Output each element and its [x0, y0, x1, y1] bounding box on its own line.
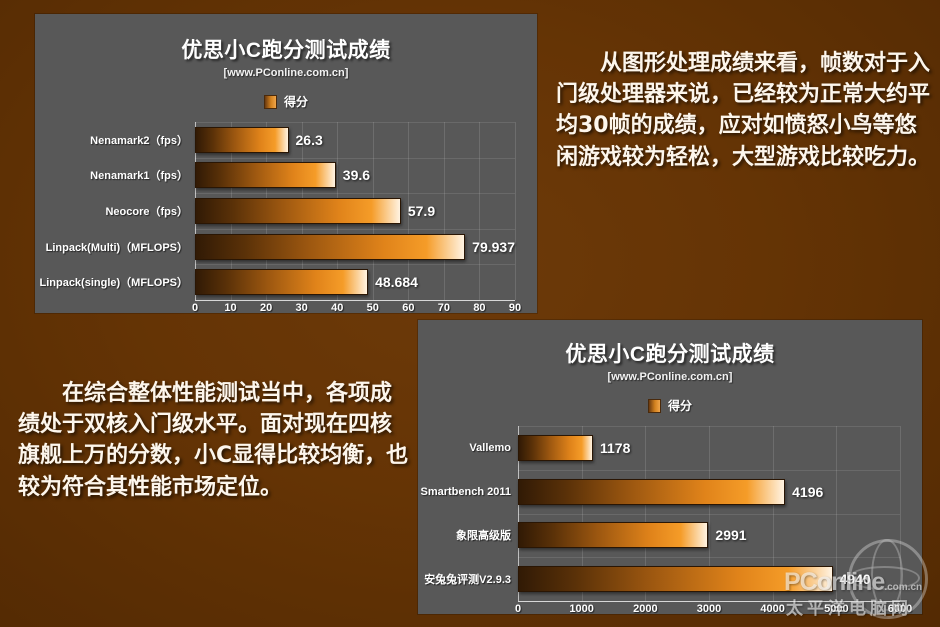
bar-category-label: Nenamark2（fps） [90, 132, 195, 148]
chart-bar-row: Nenamark2（fps）26.3 [195, 122, 515, 158]
chart-1-bars: Nenamark2（fps）26.3Nenamark1（fps）39.6Neoc… [195, 122, 515, 300]
bar [195, 162, 336, 188]
chart-bar-row: Smartbench 20114196 [518, 470, 900, 514]
bar-category-label: Linpack(single)（MFLOPS） [39, 274, 195, 290]
chart-2-legend-label: 得分 [668, 397, 692, 414]
chart-bar-row: Vallemo1178 [518, 426, 900, 470]
chart-2-axis-line [518, 601, 900, 602]
bar-value-label: 39.6 [343, 167, 370, 183]
bar-category-label: Nenamark1（fps） [90, 167, 195, 183]
bar-value-label: 2991 [715, 527, 746, 543]
chart-1-title: 优思小C跑分测试成绩 [35, 34, 537, 64]
x-axis-tick-label: 6000 [888, 603, 912, 615]
bar [195, 269, 368, 295]
x-axis-tick-label: 60 [402, 302, 414, 314]
chart-bar-row: 安兔兔评测V2.9.34940 [518, 557, 900, 601]
legend-swatch-icon [264, 95, 277, 109]
bar-value-label: 4940 [840, 571, 871, 587]
gridline-vertical [900, 426, 901, 601]
x-axis-tick-label: 1000 [569, 603, 593, 615]
bar-value-label: 57.9 [408, 203, 435, 219]
chart-2-title: 优思小C跑分测试成绩 [418, 338, 922, 368]
x-axis-tick-label: 3000 [697, 603, 721, 615]
bar [195, 234, 465, 260]
chart-panel-overall: 优思小C跑分测试成绩 [www.PConline.com.cn] 得分 Vall… [418, 320, 922, 614]
bar-category-label: Smartbench 2011 [421, 486, 519, 498]
x-axis-tick-label: 4000 [760, 603, 784, 615]
paragraph-graphics: 从图形处理成绩来看，帧数对于入门级处理器来说，已经较为正常大约平均30帧的成绩，… [556, 48, 932, 173]
bar-value-label: 26.3 [296, 132, 323, 148]
x-axis-tick-label: 0 [192, 302, 198, 314]
bar [518, 435, 593, 461]
bar-category-label: 安兔兔评测V2.9.3 [424, 571, 518, 587]
chart-2-plot: Vallemo1178Smartbench 20114196象限高级版2991安… [518, 426, 900, 601]
bar [195, 127, 289, 153]
x-axis-tick-label: 10 [224, 302, 236, 314]
chart-2-x-axis: 0100020003000400050006000 [518, 601, 900, 621]
chart-1-axis-line [195, 300, 515, 301]
x-axis-tick-label: 90 [509, 302, 521, 314]
chart-1-subtitle: [www.PConline.com.cn] [35, 67, 537, 79]
page-background: 优思小C跑分测试成绩 [www.PConline.com.cn] 得分 Nena… [0, 0, 940, 627]
x-axis-tick-label: 5000 [824, 603, 848, 615]
paragraph-overall: 在综合整体性能测试当中，各项成绩处于双核入门级水平。面对现在四核旗舰上万的分数，… [18, 378, 410, 503]
bar-category-label: Vallemo [469, 442, 518, 454]
chart-bar-row: Linpack(Multi)（MFLOPS）79.937 [195, 229, 515, 265]
chart-1-legend: 得分 [35, 93, 537, 110]
chart-1-x-axis: 0102030405060708090 [195, 300, 515, 320]
gridline-vertical [515, 122, 516, 300]
bar-category-label: Linpack(Multi)（MFLOPS） [46, 239, 195, 255]
bar [518, 479, 785, 505]
bar-category-label: Neocore（fps） [105, 203, 195, 219]
x-axis-tick-label: 2000 [633, 603, 657, 615]
chart-bar-row: 象限高级版2991 [518, 514, 900, 558]
chart-1-legend-label: 得分 [284, 93, 308, 110]
x-axis-tick-label: 0 [515, 603, 521, 615]
bar-value-label: 48.684 [375, 274, 418, 290]
x-axis-tick-label: 40 [331, 302, 343, 314]
bar-value-label: 79.937 [472, 239, 515, 255]
bar [518, 522, 708, 548]
chart-bar-row: Nenamark1（fps）39.6 [195, 158, 515, 194]
chart-2-subtitle: [www.PConline.com.cn] [418, 371, 922, 383]
x-axis-tick-label: 80 [473, 302, 485, 314]
chart-panel-graphics: 优思小C跑分测试成绩 [www.PConline.com.cn] 得分 Nena… [35, 14, 537, 313]
chart-bar-row: Neocore（fps）57.9 [195, 193, 515, 229]
chart-2-bars: Vallemo1178Smartbench 20114196象限高级版2991安… [518, 426, 900, 601]
chart-1-plot: Nenamark2（fps）26.3Nenamark1（fps）39.6Neoc… [195, 122, 515, 300]
x-axis-tick-label: 50 [367, 302, 379, 314]
bar-value-label: 4196 [792, 484, 823, 500]
chart-bar-row: Linpack(single)（MFLOPS）48.684 [195, 264, 515, 300]
bar [518, 566, 833, 592]
chart-2-legend: 得分 [418, 397, 922, 414]
bar-category-label: 象限高级版 [456, 527, 518, 543]
legend-swatch-icon [648, 399, 661, 413]
bar [195, 198, 401, 224]
bar-value-label: 1178 [600, 440, 630, 456]
x-axis-tick-label: 30 [296, 302, 308, 314]
x-axis-tick-label: 70 [438, 302, 450, 314]
x-axis-tick-label: 20 [260, 302, 272, 314]
